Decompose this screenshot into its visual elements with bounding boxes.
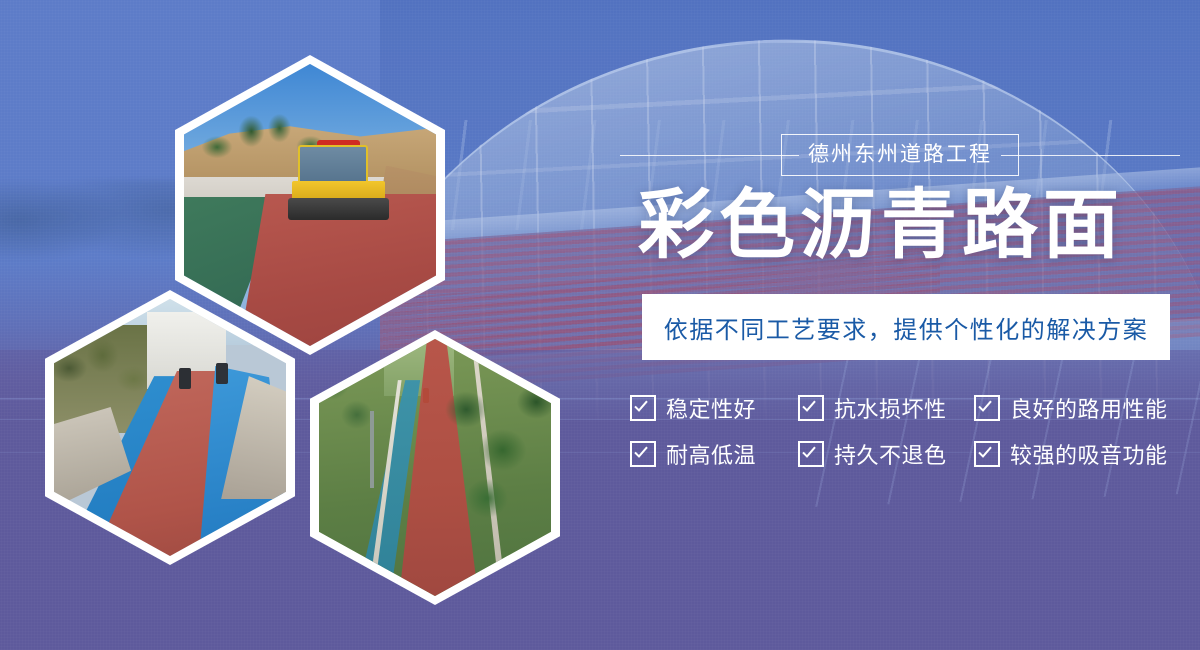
feature-item: 较强的吸音功能 xyxy=(974,438,1190,470)
feature-label: 良好的路用性能 xyxy=(1010,392,1168,424)
brand-tagline-box: 德州东州道路工程 xyxy=(781,134,1019,175)
photo-lamp-post xyxy=(370,411,374,488)
checkbox-checked-icon xyxy=(798,395,824,421)
photo-roller-scene xyxy=(184,64,436,346)
hexagon-photo-bikepath-image xyxy=(54,299,286,556)
feature-label: 较强的吸音功能 xyxy=(1010,438,1168,470)
feature-label: 耐高低温 xyxy=(666,438,756,470)
checkbox-checked-icon xyxy=(974,441,1000,467)
feature-item: 抗水损坏性 xyxy=(798,392,974,424)
photo-motorcycle xyxy=(179,368,191,389)
checkbox-checked-icon xyxy=(974,395,1000,421)
checkbox-checked-icon xyxy=(798,441,824,467)
photo-road-roller xyxy=(290,140,396,225)
feature-item: 稳定性好 xyxy=(630,392,798,424)
photo-motorcycle xyxy=(216,363,228,384)
photo-pedestrian xyxy=(423,388,429,403)
brand-tagline: 德州东州道路工程 xyxy=(808,142,992,167)
feature-label: 持久不退色 xyxy=(834,438,947,470)
roller-drum xyxy=(288,198,390,220)
photo-greenway-scene xyxy=(319,339,551,596)
feature-item: 耐高低温 xyxy=(630,438,798,470)
feature-item: 良好的路用性能 xyxy=(974,392,1190,424)
subtitle-text: 依据不同工艺要求，提供个性化的解决方案 xyxy=(664,310,1149,345)
photo-bikepath-scene xyxy=(54,299,286,556)
feature-item: 持久不退色 xyxy=(798,438,974,470)
subtitle-bar: 依据不同工艺要求，提供个性化的解决方案 xyxy=(642,294,1170,360)
tagline-rule-right xyxy=(1001,155,1180,156)
checkbox-checked-icon xyxy=(630,441,656,467)
banner-content: 德州东州道路工程 彩色沥青路面 依据不同工艺要求，提供个性化的解决方案 稳定性好 xyxy=(620,0,1180,650)
checkbox-checked-icon xyxy=(630,395,656,421)
tagline-rule-left xyxy=(620,155,799,156)
feature-list: 稳定性好 抗水损坏性 良好的路用性能 xyxy=(630,392,1190,470)
feature-label: 稳定性好 xyxy=(666,392,756,424)
feature-label: 抗水损坏性 xyxy=(834,392,947,424)
hexagon-photo-greenway-image xyxy=(319,339,551,596)
brand-tagline-row: 德州东州道路工程 xyxy=(620,128,1180,182)
hexagon-photo-roller-image xyxy=(184,64,436,346)
promotional-banner: 德州东州道路工程 彩色沥青路面 依据不同工艺要求，提供个性化的解决方案 稳定性好 xyxy=(0,0,1200,650)
page-title: 彩色沥青路面 xyxy=(638,188,1124,264)
